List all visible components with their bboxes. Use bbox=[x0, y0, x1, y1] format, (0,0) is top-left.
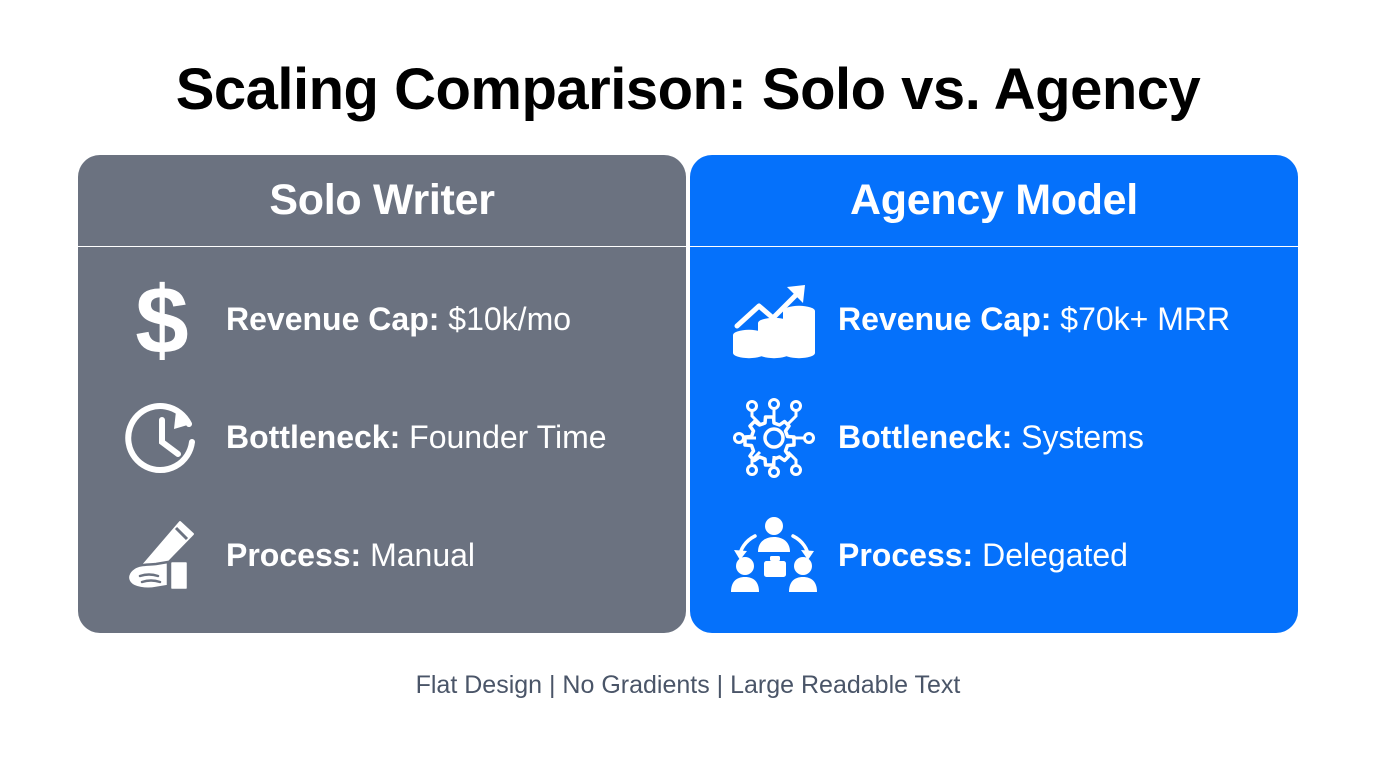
comparison-cards: Solo Writer $ Revenue Cap: $10k/mo bbox=[78, 155, 1298, 633]
agency-row-process-text: Process: Delegated bbox=[838, 537, 1128, 574]
solo-row-process: Process: Manual bbox=[78, 497, 686, 615]
agency-row-revenue-cap: Revenue Cap: $70k+ MRR bbox=[690, 261, 1298, 379]
card-solo-header-label: Solo Writer bbox=[269, 176, 494, 225]
agency-row-process-value: Delegated bbox=[982, 537, 1128, 573]
agency-row-bottleneck-label: Bottleneck: bbox=[838, 419, 1012, 455]
agency-row-bottleneck: Bottleneck: Systems bbox=[690, 379, 1298, 497]
dollar-sign-icon: $ bbox=[108, 272, 216, 368]
agency-row-revenue-cap-text: Revenue Cap: $70k+ MRR bbox=[838, 301, 1230, 338]
solo-row-bottleneck-label: Bottleneck: bbox=[226, 419, 400, 455]
solo-row-process-label: Process: bbox=[226, 537, 361, 573]
solo-row-revenue-cap-value: $10k/mo bbox=[448, 301, 571, 337]
footer-caption: Flat Design | No Gradients | Large Reada… bbox=[416, 671, 961, 700]
card-agency-header: Agency Model bbox=[690, 155, 1298, 246]
card-solo-header: Solo Writer bbox=[78, 155, 686, 246]
card-solo-writer: Solo Writer $ Revenue Cap: $10k/mo bbox=[78, 155, 686, 633]
card-solo-body: $ Revenue Cap: $10k/mo bbox=[78, 247, 686, 633]
gear-network-icon bbox=[720, 390, 828, 486]
infographic-page: Scaling Comparison: Solo vs. Agency Solo… bbox=[0, 0, 1376, 768]
solo-row-revenue-cap-text: Revenue Cap: $10k/mo bbox=[226, 301, 571, 338]
hand-writing-pencil-icon bbox=[108, 508, 216, 604]
svg-text:$: $ bbox=[135, 273, 188, 367]
solo-row-process-text: Process: Manual bbox=[226, 537, 475, 574]
solo-row-bottleneck: Bottleneck: Founder Time bbox=[78, 379, 686, 497]
clock-arrow-icon bbox=[108, 390, 216, 486]
card-agency-header-label: Agency Model bbox=[850, 176, 1138, 225]
agency-row-revenue-cap-label: Revenue Cap: bbox=[838, 301, 1051, 337]
solo-row-revenue-cap: $ Revenue Cap: $10k/mo bbox=[78, 261, 686, 379]
solo-row-bottleneck-value: Founder Time bbox=[409, 419, 606, 455]
agency-row-bottleneck-value: Systems bbox=[1021, 419, 1144, 455]
agency-row-bottleneck-text: Bottleneck: Systems bbox=[838, 419, 1144, 456]
agency-row-process-label: Process: bbox=[838, 537, 973, 573]
solo-row-process-value: Manual bbox=[370, 537, 475, 573]
coin-stacks-growth-icon bbox=[720, 272, 828, 368]
card-agency-body: Revenue Cap: $70k+ MRR bbox=[690, 247, 1298, 633]
agency-row-process: Process: Delegated bbox=[690, 497, 1298, 615]
solo-row-bottleneck-text: Bottleneck: Founder Time bbox=[226, 419, 607, 456]
page-title: Scaling Comparison: Solo vs. Agency bbox=[176, 58, 1201, 122]
agency-row-revenue-cap-value: $70k+ MRR bbox=[1060, 301, 1230, 337]
solo-row-revenue-cap-label: Revenue Cap: bbox=[226, 301, 439, 337]
team-delegation-icon bbox=[720, 508, 828, 604]
card-agency-model: Agency Model bbox=[690, 155, 1298, 633]
